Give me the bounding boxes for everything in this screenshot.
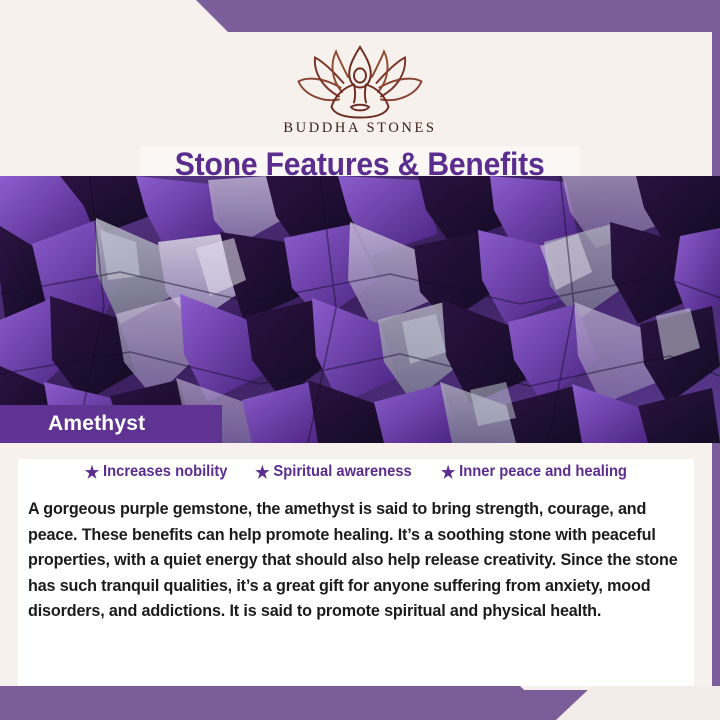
star-icon: ★ bbox=[255, 464, 269, 481]
star-icon: ★ bbox=[441, 464, 455, 481]
stone-name-label: Amethyst bbox=[0, 405, 222, 443]
header: BUDDHA STONES Stone Features & Benefits bbox=[8, 32, 712, 176]
brand-name: BUDDHA STONES bbox=[283, 120, 436, 137]
star-icon: ★ bbox=[84, 464, 98, 481]
benefit-label: Increases nobility bbox=[103, 463, 227, 481]
stone-name-text: Amethyst bbox=[48, 412, 145, 436]
benefit-item: ★ Inner peace and healing bbox=[441, 463, 627, 481]
benefit-item: ★ Spiritual awareness bbox=[255, 463, 412, 481]
amethyst-crystal-photo bbox=[0, 176, 720, 443]
benefit-label: Inner peace and healing bbox=[459, 463, 627, 481]
content-card: ★ Increases nobility ★ Spiritual awarene… bbox=[18, 443, 694, 686]
description-text: A gorgeous purple gemstone, the amethyst… bbox=[28, 497, 678, 625]
benefits-list: ★ Increases nobility ★ Spiritual awarene… bbox=[18, 463, 694, 481]
infographic-page: BUDDHA STONES Stone Features & Benefits bbox=[0, 0, 720, 720]
benefit-label: Spiritual awareness bbox=[273, 463, 411, 481]
lotus-meditation-icon bbox=[280, 44, 440, 119]
benefit-item: ★ Increases nobility bbox=[84, 463, 227, 481]
card-top-accent bbox=[18, 443, 694, 459]
